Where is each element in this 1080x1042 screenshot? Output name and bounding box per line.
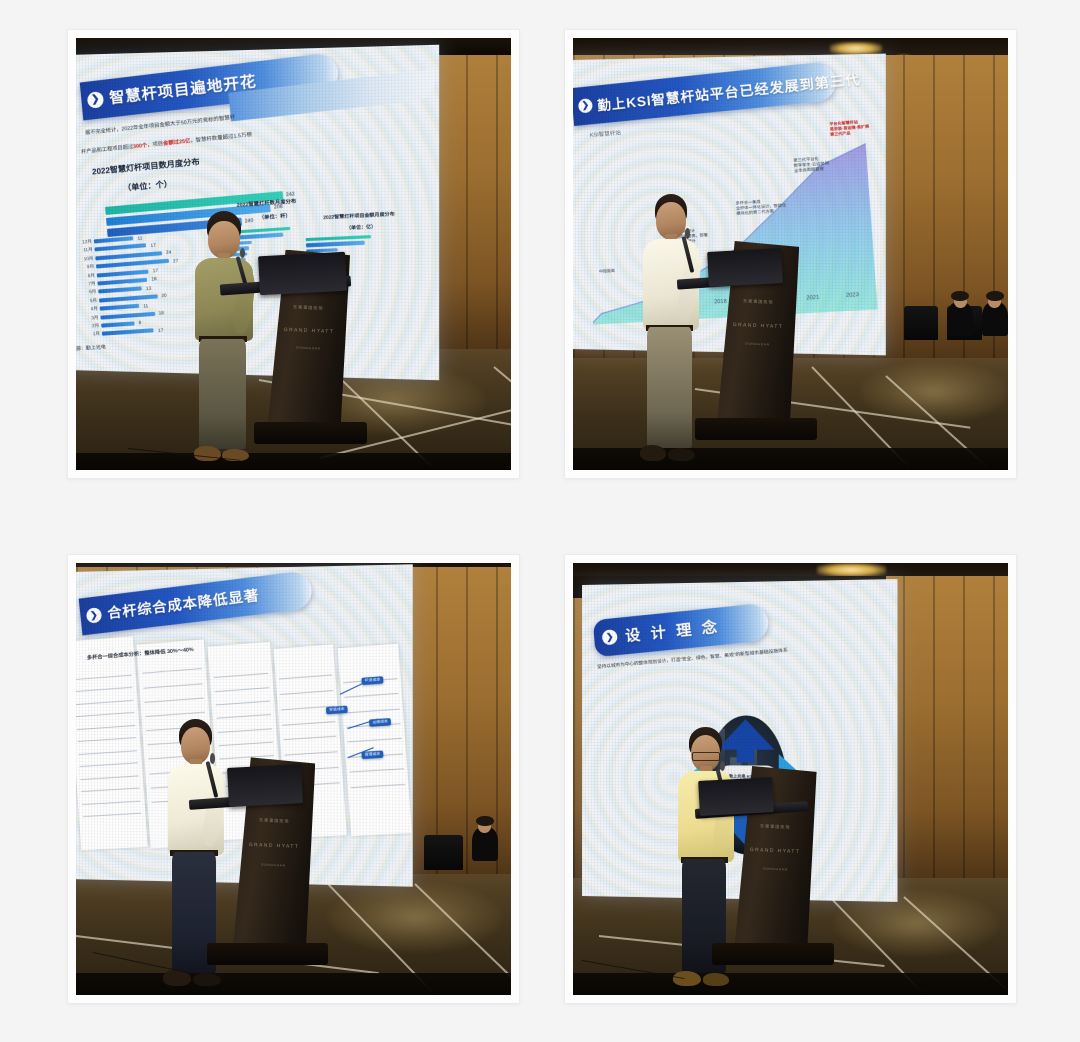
chart1-bar	[102, 329, 154, 336]
stage-front-edge	[76, 453, 511, 470]
audience-member-hair	[986, 291, 1003, 301]
photo-image-bottom-right: ❯ 设 计 理 念 坚持以城市为中心的整体规划设计，打造“安全、绿色、智慧、美观…	[573, 563, 1008, 995]
laptop	[707, 248, 783, 286]
chart1-bar-value: 27	[173, 258, 179, 263]
chart1-bar-label: 2月	[77, 323, 99, 330]
eyeglasses	[692, 752, 720, 761]
chart1-bar-value: 13	[146, 285, 152, 290]
chart1-bar-label: 12月	[76, 239, 93, 247]
slide-title-ribbon: ❯ 设 计 理 念	[593, 602, 770, 657]
chart1-bar	[99, 287, 143, 294]
laptop	[258, 252, 347, 295]
chevron-right-icon: ❯	[86, 607, 103, 624]
audience-chair	[904, 306, 939, 341]
body-text-mid: ，项目	[147, 141, 163, 149]
callout-install-cost: 安装成本	[326, 705, 348, 714]
podium-base	[695, 418, 817, 440]
chart3-caption-line2: （单位：亿）	[346, 224, 377, 232]
slide-title: 勤上KSI智慧杆站平台已经发展到第三代	[596, 67, 861, 114]
shoe-right	[668, 448, 695, 461]
stage-front-edge	[573, 973, 1008, 995]
photo-card-top-right[interactable]: ❯ 勤上KSI智慧杆站平台已经发展到第三代 KSI智慧杆站	[565, 30, 1016, 478]
chart1-bar-value: 16	[152, 277, 158, 282]
axis-year-2021: 2021	[806, 294, 819, 301]
laptop	[698, 777, 774, 815]
audience-member-hair	[951, 291, 968, 301]
photo-image-top-right: ❯ 勤上KSI智慧杆站平台已经发展到第三代 KSI智慧杆站	[573, 38, 1008, 470]
slide-title: 合杆综合成本降低显著	[107, 585, 261, 624]
trousers	[647, 327, 691, 448]
podium-base	[207, 943, 329, 965]
chart1-bar	[101, 311, 155, 319]
generation-note-4: 第三代平台化数字孪生·云边协同全生命周期管理	[793, 155, 830, 174]
chevron-right-icon: ❯	[578, 98, 593, 113]
generation-note-3: 多杆合一集成全杆体一体化设计，智能化模块化的第二代方案	[736, 197, 787, 216]
chart1-bar	[94, 236, 134, 243]
photo-image-top-left: ❯ 智慧杆项目遍地开花 据不完全统计，2022年全年项目金额大于50万元的竞标的…	[76, 38, 511, 470]
chart-source-label: 来源：勤上光电	[76, 345, 106, 354]
microphone-head	[720, 761, 725, 771]
chart1-bar-value: 17	[153, 268, 159, 273]
shoe-left	[673, 971, 701, 987]
chart1-bar-value: 8	[139, 320, 142, 325]
ceiling-light	[817, 563, 887, 577]
chart1-bar	[101, 321, 135, 327]
laptop	[227, 764, 303, 807]
stage-front-edge	[76, 973, 511, 995]
shoe-left	[640, 445, 667, 461]
trousers	[199, 339, 246, 449]
chart1-bar	[95, 244, 147, 252]
chart1-bar-label: 9月	[76, 264, 95, 272]
chart1-bar-value: 17	[158, 327, 164, 332]
chart-area-label: KSI智慧杆站	[590, 130, 622, 140]
chart1-bar-value: 11	[143, 303, 148, 308]
shoe-right	[703, 973, 730, 986]
generation-note-1: 中短距离	[599, 268, 615, 275]
slide-title-ribbon: ❯ 合杆综合成本降低显著	[79, 570, 314, 635]
chart1-bar-label: 7月	[76, 281, 96, 289]
podium-base	[712, 943, 834, 965]
chart1-bar-value: 17	[151, 242, 157, 247]
highlight-amount: 金额过25亿	[163, 138, 191, 147]
body-text-pre: 杆产品和工程项目超过	[81, 144, 134, 155]
chart3-caption-line1: 2022智慧灯杆项目金额月度分布	[323, 211, 395, 221]
chart1-bar-label: 5月	[76, 297, 98, 305]
podium-base	[254, 422, 367, 444]
chart1-caption-line2: （单位：个）	[123, 179, 173, 195]
shoe-right	[193, 973, 221, 986]
chart1-caption-line1: 2022智慧灯杆项目数月度分布	[92, 157, 200, 178]
chart1-bar-label: 8月	[76, 272, 95, 280]
photo-card-top-left[interactable]: ❯ 智慧杆项目遍地开花 据不完全统计，2022年全年项目金额大于50万元的竞标的…	[68, 30, 519, 478]
axis-year-2023: 2023	[845, 291, 859, 298]
chart1-bar-value: 18	[159, 310, 165, 315]
document-page	[338, 643, 413, 836]
chart1-bar	[100, 304, 140, 311]
photo-collage: ❯ 智慧杆项目遍地开花 据不完全统计，2022年全年项目金额大于50万元的竞标的…	[0, 0, 1080, 1042]
highlight-count: 300个	[133, 143, 148, 150]
photo-image-bottom-left: ❯ 合杆综合成本降低显著	[76, 563, 511, 995]
photo-card-bottom-right[interactable]: ❯ 设 计 理 念 坚持以城市为中心的整体规划设计，打造“安全、绿色、智慧、美观…	[565, 555, 1016, 1003]
chart1-bar	[97, 269, 149, 277]
generation-note-highlight: 平台化智慧杆站易安装·易运维·易扩展第三代产品	[829, 119, 869, 137]
audience-chair	[424, 835, 463, 870]
chart1-bar	[98, 278, 148, 286]
slide-title-ribbon: ❯ 勤上KSI智慧杆站平台已经发展到第三代	[573, 61, 837, 126]
photo-card-bottom-left[interactable]: ❯ 合杆综合成本降低显著	[68, 555, 519, 1003]
chart1-bar-label: 1月	[78, 331, 100, 338]
chart1-bar-label: 3月	[77, 314, 99, 322]
chart1-bar-value: 24	[166, 250, 172, 255]
microphone-head	[240, 248, 245, 258]
shoe-left	[194, 446, 221, 461]
chart1-bar-label: 4月	[76, 306, 98, 314]
speaker-figure	[185, 211, 263, 462]
chart1-bar-label: 10月	[76, 255, 94, 263]
chart1-bar-label: 11月	[76, 247, 93, 255]
chart1-monthly-bars: 12月1111月1710月249月278月177月166月135月204月113…	[76, 230, 200, 341]
chart1-bar-value: 11	[138, 235, 143, 240]
microphone-head	[685, 228, 690, 239]
document-page	[76, 636, 148, 850]
chart1-bar-label: 6月	[76, 289, 97, 297]
microphone-head	[210, 753, 215, 764]
slide-title: 设 计 理 念	[624, 615, 721, 646]
chevron-right-icon: ❯	[601, 629, 617, 645]
audience-member-hair	[476, 816, 493, 826]
chart1-bar	[99, 294, 158, 302]
chevron-right-icon: ❯	[87, 91, 105, 109]
body-text-post: ，智慧杆数量超过1.5万根	[191, 132, 253, 144]
chart1-bar-value: 20	[161, 293, 167, 298]
